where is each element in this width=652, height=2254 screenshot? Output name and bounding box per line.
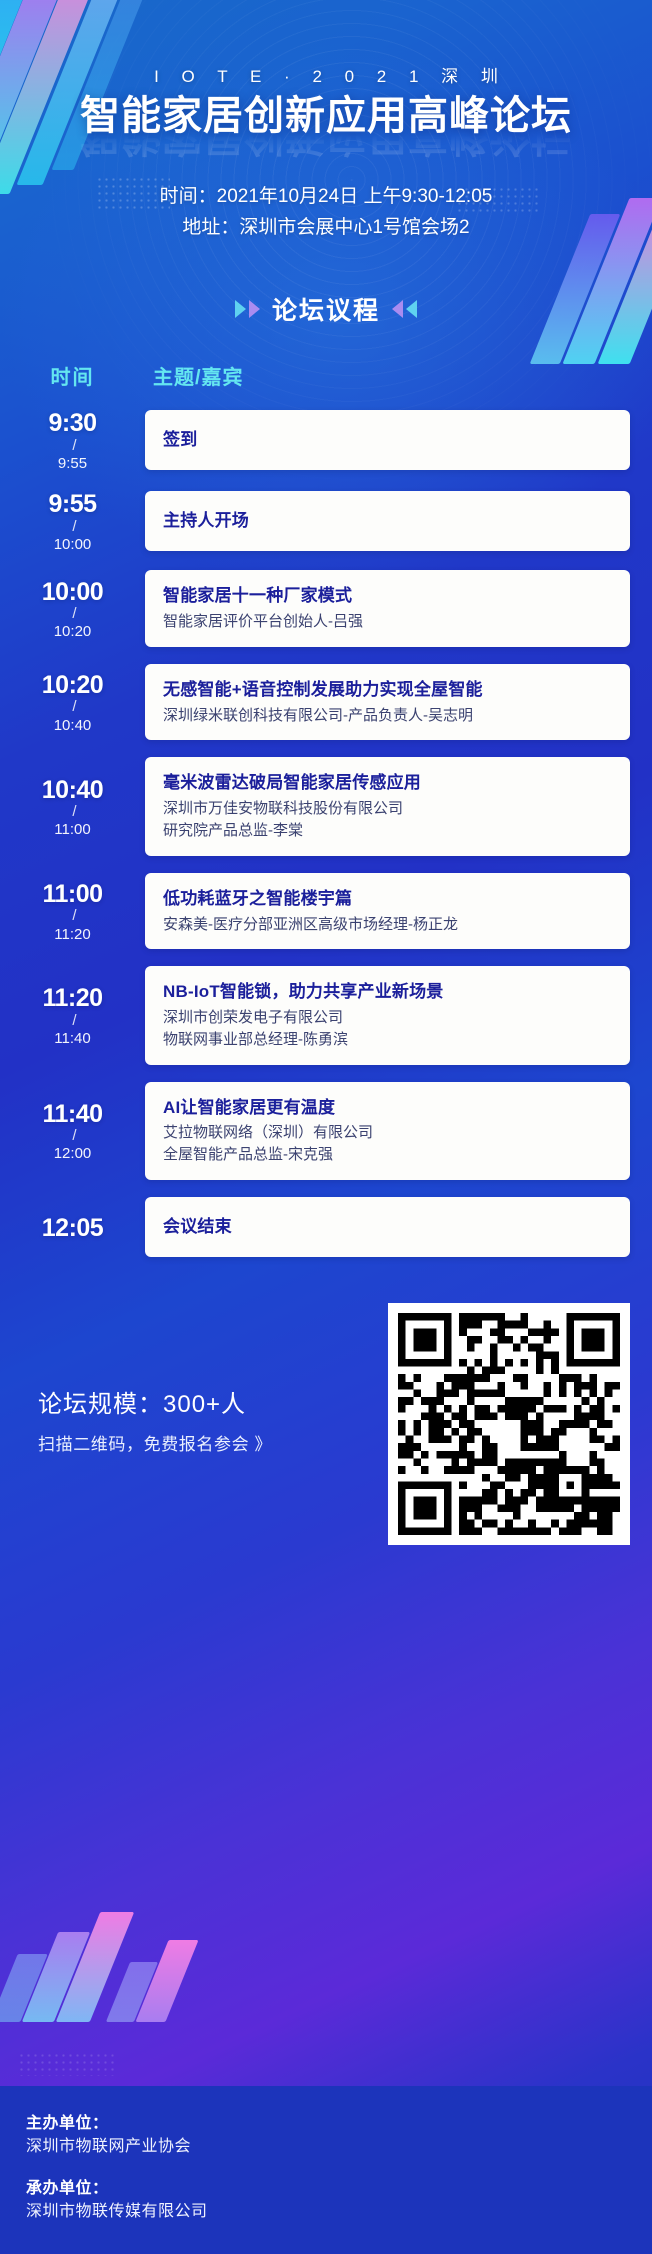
agenda-session-card[interactable]: 签到	[145, 410, 630, 470]
agenda-end-time: 10:00	[0, 536, 145, 553]
agenda-start-time: 11:20	[0, 985, 145, 1011]
agenda-section-header: 论坛议程	[0, 291, 652, 327]
agenda-start-time: 10:20	[0, 672, 145, 698]
session-title: 无感智能+语音控制发展助力实现全屋智能	[163, 678, 612, 702]
agenda-row: 12:05会议结束	[0, 1197, 652, 1257]
poster-canvas: I O T E · 2 0 2 1 深 圳 智能家居创新应用高峰论坛 智能家居创…	[0, 0, 652, 2254]
session-speaker-line-2: 研究院产品总监-李棠	[163, 820, 612, 842]
agenda-time-separator: /	[4, 908, 145, 925]
agenda-session-card[interactable]: 无感智能+语音控制发展助力实现全屋智能深圳绿米联创科技有限公司-产品负责人-吴志…	[145, 664, 630, 741]
double-arrow-left-icon	[392, 300, 417, 318]
agenda-end-time: 10:40	[0, 717, 145, 734]
agenda-time-cell: 11:00/11:20	[0, 879, 145, 943]
agenda-time-cell: 9:30/9:55	[0, 408, 145, 472]
agenda-end-time: 12:00	[0, 1145, 145, 1162]
agenda-time-cell: 10:20/10:40	[0, 670, 145, 734]
agenda-start-time: 9:30	[0, 410, 145, 436]
agenda-start-time: 10:40	[0, 777, 145, 803]
agenda-start-time: 11:00	[0, 881, 145, 907]
poster-header: I O T E · 2 0 2 1 深 圳 智能家居创新应用高峰论坛 智能家居创…	[0, 0, 652, 243]
agenda-row: 10:00/10:20智能家居十一种厂家模式智能家居评价平台创始人-吕强	[0, 570, 652, 647]
session-speaker-line-2: 全屋智能产品总监-宋克强	[163, 1144, 612, 1166]
agenda-row: 11:40/12:00AI让智能家居更有温度艾拉物联网络（深圳）有限公司全屋智能…	[0, 1082, 652, 1180]
session-title: AI让智能家居更有温度	[163, 1096, 612, 1120]
agenda-section-title: 论坛议程	[272, 291, 380, 327]
agenda-row: 11:00/11:20低功耗蓝牙之智能楼宇篇安森美-医疗分部亚洲区高级市场经理-…	[0, 873, 652, 950]
undertaker-group: 承办单位： 深圳市物联传媒有限公司	[26, 2177, 652, 2224]
agenda-row: 9:55/10:00主持人开场	[0, 489, 652, 553]
agenda-session-card[interactable]: 主持人开场	[145, 491, 630, 551]
column-header-topic: 主题/嘉宾	[145, 361, 630, 390]
agenda-start-time: 10:00	[0, 579, 145, 605]
agenda-session-card[interactable]: NB-IoT智能锁，助力共享产业新场景深圳市创荣发电子有限公司物联网事业部总经理…	[145, 966, 630, 1064]
agenda-start-time: 11:40	[0, 1101, 145, 1127]
session-speaker-line-1: 深圳绿米联创科技有限公司-产品负责人-吴志明	[163, 705, 612, 727]
double-arrow-right-icon	[235, 300, 260, 318]
agenda-column-headers: 时间 主题/嘉宾	[0, 361, 652, 390]
organizer-label: 主办单位：	[26, 2112, 652, 2135]
agenda-start-time: 12:05	[0, 1215, 145, 1241]
session-title: 主持人开场	[163, 509, 612, 533]
agenda-time-separator: /	[4, 699, 145, 716]
qr-code-svg	[398, 1313, 620, 1535]
organizer-value: 深圳市物联网产业协会	[26, 2135, 652, 2159]
session-title: 低功耗蓝牙之智能楼宇篇	[163, 887, 612, 911]
agenda-session-card[interactable]: AI让智能家居更有温度艾拉物联网络（深圳）有限公司全屋智能产品总监-宋克强	[145, 1082, 630, 1180]
agenda-row: 9:30/9:55签到	[0, 408, 652, 472]
agenda-time-cell: 11:40/12:00	[0, 1099, 145, 1163]
agenda-row: 11:20/11:40NB-IoT智能锁，助力共享产业新场景深圳市创荣发电子有限…	[0, 966, 652, 1064]
agenda-session-card[interactable]: 毫米波雷达破局智能家居传感应用深圳市万佳安物联科技股份有限公司研究院产品总监-李…	[145, 757, 630, 855]
session-title: NB-IoT智能锁，助力共享产业新场景	[163, 980, 612, 1004]
event-time: 时间：2021年10月24日 上午9:30-12:05	[0, 182, 652, 213]
agenda-time-cell: 9:55/10:00	[0, 489, 145, 553]
poster-footer: 主办单位： 深圳市物联网产业协会 承办单位： 深圳市物联传媒有限公司	[0, 2086, 652, 2254]
agenda-end-time: 11:20	[0, 926, 145, 943]
agenda-time-separator: /	[4, 804, 145, 821]
page-title: 智能家居创新应用高峰论坛	[0, 94, 652, 139]
session-speaker-line-1: 深圳市万佳安物联科技股份有限公司	[163, 798, 612, 820]
session-title: 签到	[163, 428, 612, 452]
bottom-left-stripes-decoration	[4, 1902, 214, 2022]
event-address: 地址：深圳市会展中心1号馆会场2	[0, 213, 652, 244]
registration-block: 论坛规模：300+人 扫描二维码，免费报名参会 》	[0, 1303, 652, 1545]
agenda-time-separator: /	[4, 1013, 145, 1030]
forum-scale-text: 论坛规模：300+人	[38, 1389, 374, 1420]
session-title: 会议结束	[163, 1215, 612, 1239]
session-title: 毫米波雷达破局智能家居传感应用	[163, 771, 612, 795]
column-header-time: 时间	[0, 361, 145, 390]
scan-prompt-text: 扫描二维码，免费报名参会 》	[38, 1430, 374, 1455]
agenda-row: 10:40/11:00毫米波雷达破局智能家居传感应用深圳市万佳安物联科技股份有限…	[0, 757, 652, 855]
registration-text: 论坛规模：300+人 扫描二维码，免费报名参会 》	[38, 1389, 374, 1459]
session-speaker-line-1: 艾拉物联网络（深圳）有限公司	[163, 1122, 612, 1144]
event-meta: 时间：2021年10月24日 上午9:30-12:05 地址：深圳市会展中心1号…	[0, 182, 652, 244]
session-title: 智能家居十一种厂家模式	[163, 584, 612, 608]
agenda-time-separator: /	[4, 1128, 145, 1145]
agenda-end-time: 9:55	[0, 455, 145, 472]
event-kicker: I O T E · 2 0 2 1 深 圳	[0, 62, 652, 87]
agenda-time-cell: 10:40/11:00	[0, 775, 145, 839]
undertaker-value: 深圳市物联传媒有限公司	[26, 2200, 652, 2224]
agenda-end-time: 11:00	[0, 821, 145, 838]
session-speaker-line-2: 物联网事业部总经理-陈勇滨	[163, 1029, 612, 1051]
dot-grid-footer-decoration	[18, 2052, 114, 2076]
agenda-session-card[interactable]: 低功耗蓝牙之智能楼宇篇安森美-医疗分部亚洲区高级市场经理-杨正龙	[145, 873, 630, 950]
agenda-time-cell: 12:05	[0, 1213, 145, 1241]
agenda-row: 10:20/10:40无感智能+语音控制发展助力实现全屋智能深圳绿米联创科技有限…	[0, 664, 652, 741]
agenda-time-separator: /	[4, 519, 145, 536]
session-speaker-line-1: 安森美-医疗分部亚洲区高级市场经理-杨正龙	[163, 914, 612, 936]
agenda-end-time: 10:20	[0, 623, 145, 640]
qr-code-image[interactable]	[388, 1303, 630, 1545]
session-speaker-line-1: 智能家居评价平台创始人-吕强	[163, 611, 612, 633]
undertaker-label: 承办单位：	[26, 2177, 652, 2200]
session-speaker-line-1: 深圳市创荣发电子有限公司	[163, 1007, 612, 1029]
agenda-time-separator: /	[4, 438, 145, 455]
agenda-end-time: 11:40	[0, 1030, 145, 1047]
agenda-time-cell: 11:20/11:40	[0, 983, 145, 1047]
agenda-start-time: 9:55	[0, 491, 145, 517]
organizer-group: 主办单位： 深圳市物联网产业协会	[26, 2112, 652, 2159]
agenda-time-separator: /	[4, 606, 145, 623]
agenda-list: 9:30/9:55签到9:55/10:00主持人开场10:00/10:20智能家…	[0, 408, 652, 1257]
agenda-session-card[interactable]: 智能家居十一种厂家模式智能家居评价平台创始人-吕强	[145, 570, 630, 647]
agenda-time-cell: 10:00/10:20	[0, 577, 145, 641]
agenda-session-card[interactable]: 会议结束	[145, 1197, 630, 1257]
